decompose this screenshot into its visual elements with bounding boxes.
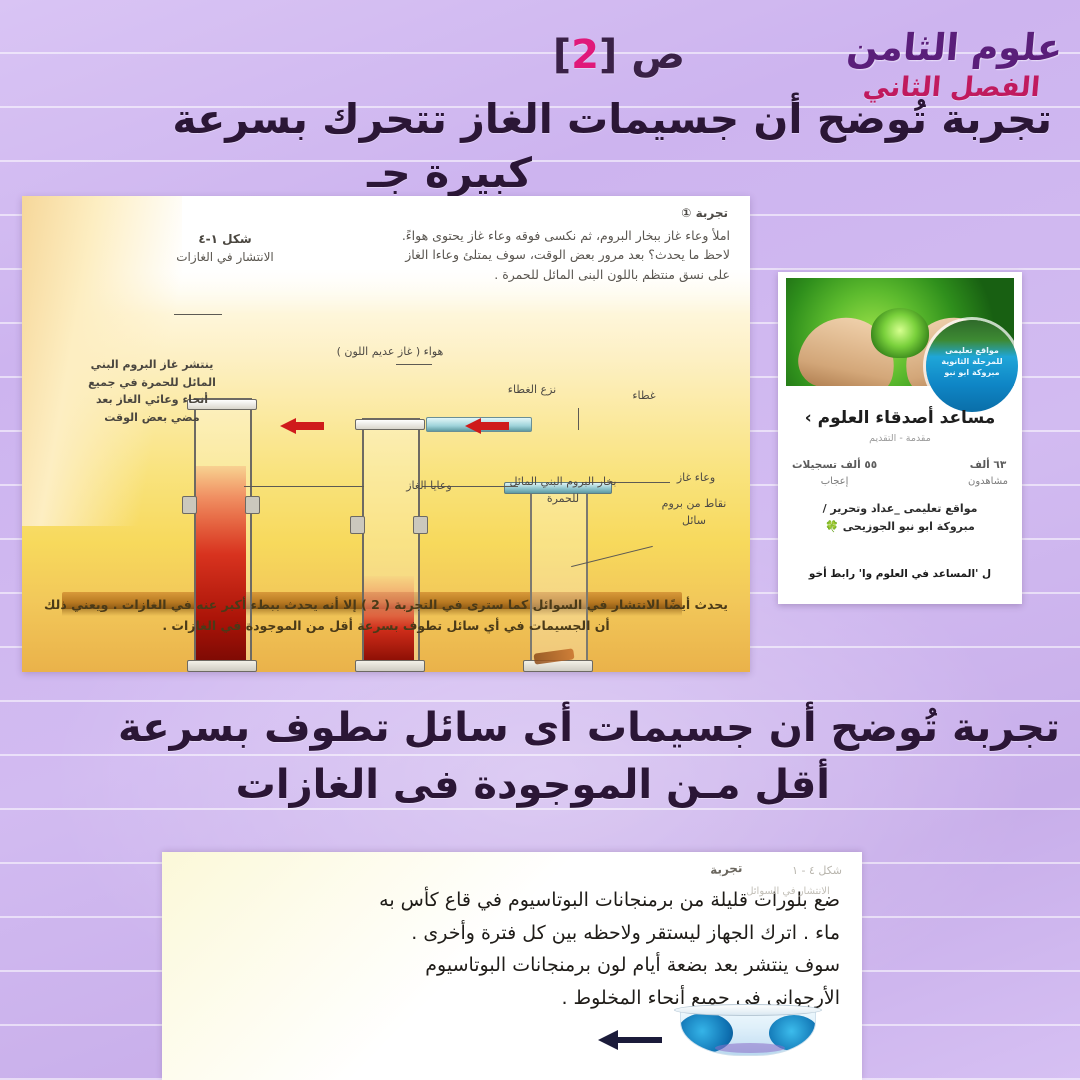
jar-clip-left <box>350 516 365 534</box>
page-number-marker: ص [2] <box>553 32 685 78</box>
jar-clip-left <box>182 496 197 514</box>
jar-clip-right <box>245 496 260 514</box>
stat-likes-value: ٥٥ ألف تسجيلات <box>792 458 877 474</box>
bottom-figure-caption: الانتشار في السوائل <box>728 886 848 897</box>
figure-caption: شكل ١-٤ الانتشار في الغازات <box>130 230 320 266</box>
notebook-page: علوم الثامن الفصل الثاني ص [2] تجربة تُو… <box>0 0 1080 1080</box>
leader-line-lid <box>578 408 579 430</box>
social-description-line2: مبروكة ابو نبو الجوزيحى <box>843 520 975 533</box>
stat-views-value: ٦٣ ألف <box>968 458 1008 474</box>
label-liquid-bromine-drops: نقاط من بروم سائل <box>650 496 738 529</box>
bottom-experiment-badge: تجربة <box>709 861 742 877</box>
beaker-pointer-arrow-icon <box>598 1034 662 1046</box>
handwritten-heading-mid-line1: تجربة تُوضح أن جسيمات أى سائل تطوف بسرعة <box>118 705 1060 751</box>
figure-caption-title: شكل ١-٤ <box>198 232 251 246</box>
label-bromine-vapour: بخار البروم البني المائل للحمرة <box>508 474 618 507</box>
liquid-diffusion-card: تجربة ضع بلورات قليلة من برمنجانات البوت… <box>162 852 862 1080</box>
process-arrow-left-icon <box>280 420 324 432</box>
leader-line-walls <box>244 486 364 487</box>
page-label: ص [ <box>599 32 685 78</box>
label-air-colourless-gas: هواء ( غاز عديم اللون ) <box>330 344 450 361</box>
clover-icon: 🍀 <box>825 520 839 533</box>
page-number-value: 2 <box>571 32 599 78</box>
experiment-badge: تجربة ① <box>681 206 728 220</box>
jar-tube <box>530 492 588 672</box>
stat-likes-label: إعجاب <box>792 474 877 489</box>
figure-bottom-paragraph: يحدث أيضًا الانتشار في السوائل كما سترى … <box>36 594 736 637</box>
page-label-close: ] <box>553 32 571 78</box>
leader-line-air <box>396 364 432 365</box>
handwritten-heading-top: تجربة تُوضح أن جسيمات الغاز تتحرك بسرعة … <box>12 92 1052 200</box>
social-card-description: مواقع تعليمى _عداد وتحرير / مبروكة ابو ن… <box>788 500 1012 536</box>
beaker-illustration <box>672 996 822 1058</box>
figure-caption-subtitle: الانتشار في الغازات <box>176 250 274 264</box>
channel-logo-text: مواقع تعليمى للمرحلة الثانوية مبروكة ابو… <box>932 346 1012 378</box>
label-gas-vessel: وعاء غاز <box>660 470 732 487</box>
stat-views: ٦٣ ألف مشاهدون <box>968 458 1008 489</box>
jar-clip-right <box>413 516 428 534</box>
social-card-title: مساعد أصدقاء العلوم › <box>778 408 1022 428</box>
process-arrow-right-icon <box>465 420 509 432</box>
label-remove-lid: نزع الغطاء <box>484 382 580 399</box>
experiment-body-text: املأ وعاء غاز ببخار البروم، ثم نكسى فوقه… <box>380 226 730 284</box>
course-title: علوم الثامن <box>845 26 1064 69</box>
label-gas-vessel-walls: وعايا الغاز <box>388 478 470 495</box>
social-card-subtitle: مقدمة - التقديم <box>778 433 1022 444</box>
label-bromine-spreads: ينتشر غاز البروم البني المائل للحمرة في … <box>82 356 222 426</box>
channel-logo-icon: مواقع تعليمى للمرحلة الثانوية مبروكة ابو… <box>926 320 1018 412</box>
social-card-stats: ٦٣ ألف مشاهدون ٥٥ ألف تسجيلات إعجاب <box>792 458 1008 494</box>
stat-likes: ٥٥ ألف تسجيلات إعجاب <box>792 458 877 489</box>
bottom-figure-number: شكل ٤ - ١ <box>792 864 842 877</box>
jar-base <box>355 660 425 672</box>
jar-base <box>187 660 257 672</box>
jar-base <box>523 660 593 672</box>
beaker-lip <box>674 1004 822 1016</box>
social-card-link[interactable]: ل 'المساعد في العلوم وا' رابط أخو <box>786 568 1014 580</box>
stat-views-label: مشاهدون <box>968 474 1008 489</box>
gas-jar-with-lid <box>530 494 584 672</box>
handwritten-heading-mid: تجربة تُوضح أن جسيمات أى سائل تطوف بسرعة… <box>12 700 1060 814</box>
handwritten-heading-top-line1: تجربة تُوضح أن جسيمات الغاز تتحرك بسرعة <box>172 95 1052 143</box>
social-description-line1: مواقع تعليمى _عداد وتحرير / <box>823 502 978 515</box>
jar-rim <box>355 419 425 430</box>
social-media-card[interactable]: مواقع تعليمى للمرحلة الثانوية مبروكة ابو… <box>778 272 1022 604</box>
label-lid: غطاء <box>616 388 672 405</box>
leader-line-left <box>174 314 222 315</box>
handwritten-heading-top-line2: كبيرة جـ <box>12 146 1052 200</box>
purple-solution <box>715 1043 785 1053</box>
handwritten-heading-mid-line2: أقل مـن الموجودة فى الغازات <box>12 757 1060 814</box>
gas-diffusion-figure-card: تجربة ① املأ وعاء غاز ببخار البروم، ثم ن… <box>22 196 750 672</box>
plant-sprout-icon <box>871 308 929 358</box>
